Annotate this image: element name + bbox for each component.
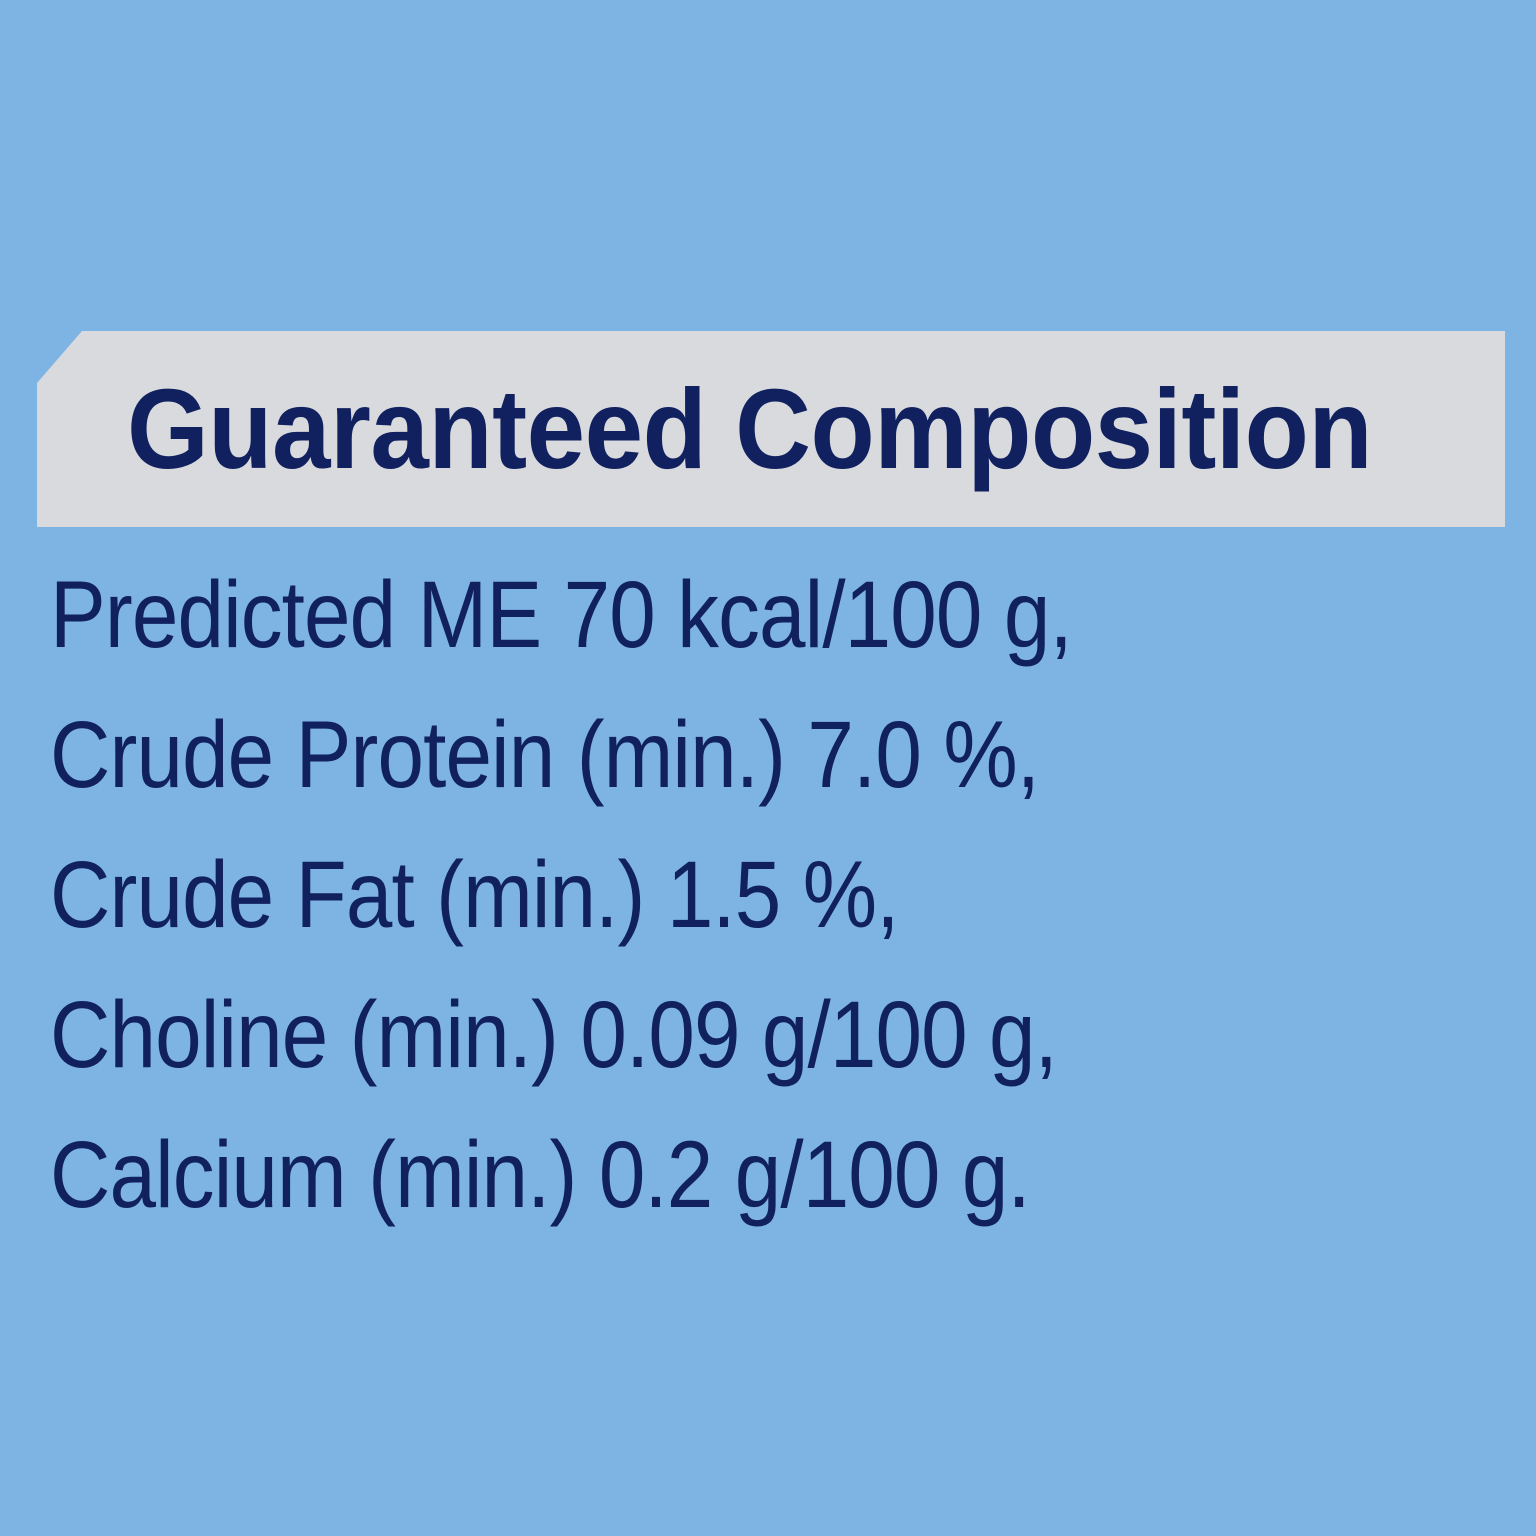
list-item: Calcium (min.) 0.2 g/100 g. bbox=[50, 1105, 1317, 1245]
guaranteed-composition-panel: Guaranteed Composition Predicted ME 70 k… bbox=[0, 0, 1536, 1536]
list-item: Predicted ME 70 kcal/100 g, bbox=[50, 545, 1317, 685]
section-header-banner: Guaranteed Composition bbox=[37, 331, 1505, 527]
page-title: Guaranteed Composition bbox=[127, 331, 1390, 527]
list-item: Crude Fat (min.) 1.5 %, bbox=[50, 825, 1317, 965]
list-item: Crude Protein (min.) 7.0 %, bbox=[50, 685, 1317, 825]
composition-list: Predicted ME 70 kcal/100 g, Crude Protei… bbox=[50, 545, 1490, 1245]
list-item: Choline (min.) 0.09 g/100 g, bbox=[50, 965, 1317, 1105]
